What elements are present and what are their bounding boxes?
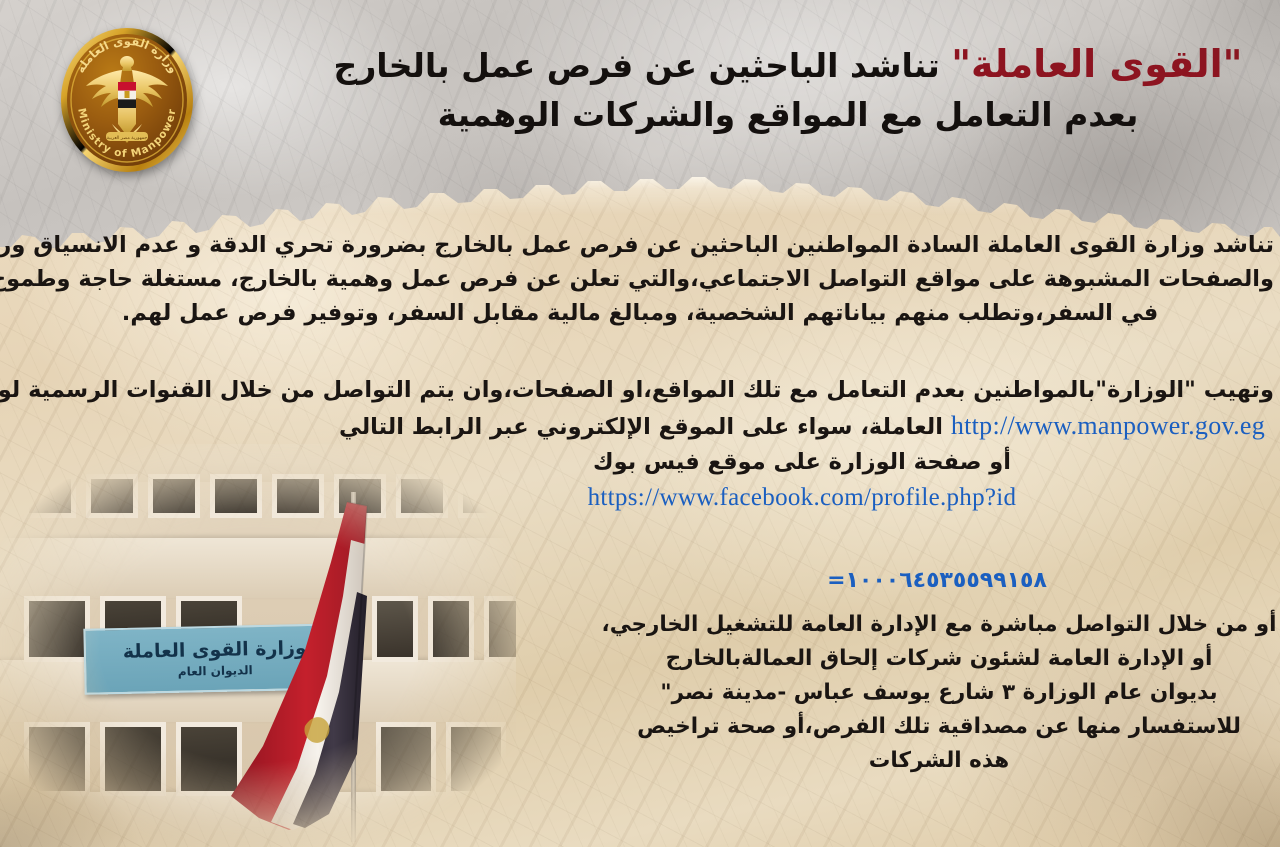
facebook-page-link[interactable]: https://www.facebook.com/profile.php?id	[588, 484, 1017, 511]
p2-line-2-text: العاملة، سواء على الموقع الإلكتروني عبر …	[339, 414, 943, 440]
headline-text-1: تناشد الباحثين عن فرص عمل بالخارج	[334, 46, 940, 85]
ministry-building-photo: وزارة القوى العاملة الديوان العام	[0, 444, 516, 847]
ministry-website-link[interactable]: http://www.manpower.gov.eg	[951, 411, 1265, 440]
headline: "القوى العاملة" تناشد الباحثين عن فرص عم…	[308, 38, 1268, 139]
building-window	[458, 474, 510, 518]
building-window	[24, 474, 76, 518]
p3-line-3: بديوان عام الوزارة ٣ شارع يوسف عباس -مدي…	[600, 676, 1278, 710]
paragraph-one: تناشد وزارة القوى العاملة السادة المواطن…	[6, 228, 1274, 330]
p1-line-2: والصفحات المشبوهة على مواقع التواصل الاج…	[6, 262, 1274, 296]
building-window	[372, 596, 418, 662]
building-window	[86, 474, 138, 518]
brand-name: "القوى العاملة"	[951, 42, 1242, 86]
building-window	[428, 596, 474, 662]
svg-text:جمهورية مصر العربية: جمهورية مصر العربية	[107, 136, 148, 141]
building-window	[376, 722, 436, 796]
building-window	[100, 722, 166, 796]
headline-line-2: بعدم التعامل مع المواقع والشركات الوهمية	[308, 92, 1268, 139]
building-window	[484, 596, 516, 662]
p1-line-3: في السفر،وتطلب منهم بياناتهم الشخصية، وم…	[6, 296, 1274, 330]
p2-line-1: وتهيب "الوزارة"بالمواطنين بعدم التعامل م…	[330, 373, 1274, 408]
building-window	[24, 596, 90, 662]
p2-line-2: http://www.manpower.gov.eg العاملة، سواء…	[330, 408, 1274, 445]
building-window	[148, 474, 200, 518]
p3-line-5: هذه الشركات	[600, 744, 1278, 778]
building-window	[24, 722, 90, 796]
p3-line-2: أو الإدارة العامة لشئون شركات إلحاق العم…	[600, 642, 1278, 676]
building-window	[396, 474, 448, 518]
p1-line-1: تناشد وزارة القوى العاملة السادة المواطن…	[6, 228, 1274, 262]
headline-line-1: "القوى العاملة" تناشد الباحثين عن فرص عم…	[308, 38, 1268, 92]
ministry-logo: وزارة القوى العاملة Ministry of Manpower…	[52, 22, 202, 177]
building-window	[446, 722, 506, 796]
p3-line-1: أو من خلال التواصل مباشرة مع الإدارة الع…	[600, 608, 1278, 642]
poster-root: وزارة القوى العاملة Ministry of Manpower…	[0, 0, 1280, 847]
facebook-profile-id: ١٠٠٠٦٤٥٣٥٥٩٩١٥٨=	[600, 568, 1274, 593]
paragraph-three: أو من خلال التواصل مباشرة مع الإدارة الع…	[600, 608, 1278, 778]
p3-line-4: للاستفسار منها عن مصداقية تلك الفرص،أو ص…	[600, 710, 1278, 744]
egypt-flag	[201, 500, 371, 830]
